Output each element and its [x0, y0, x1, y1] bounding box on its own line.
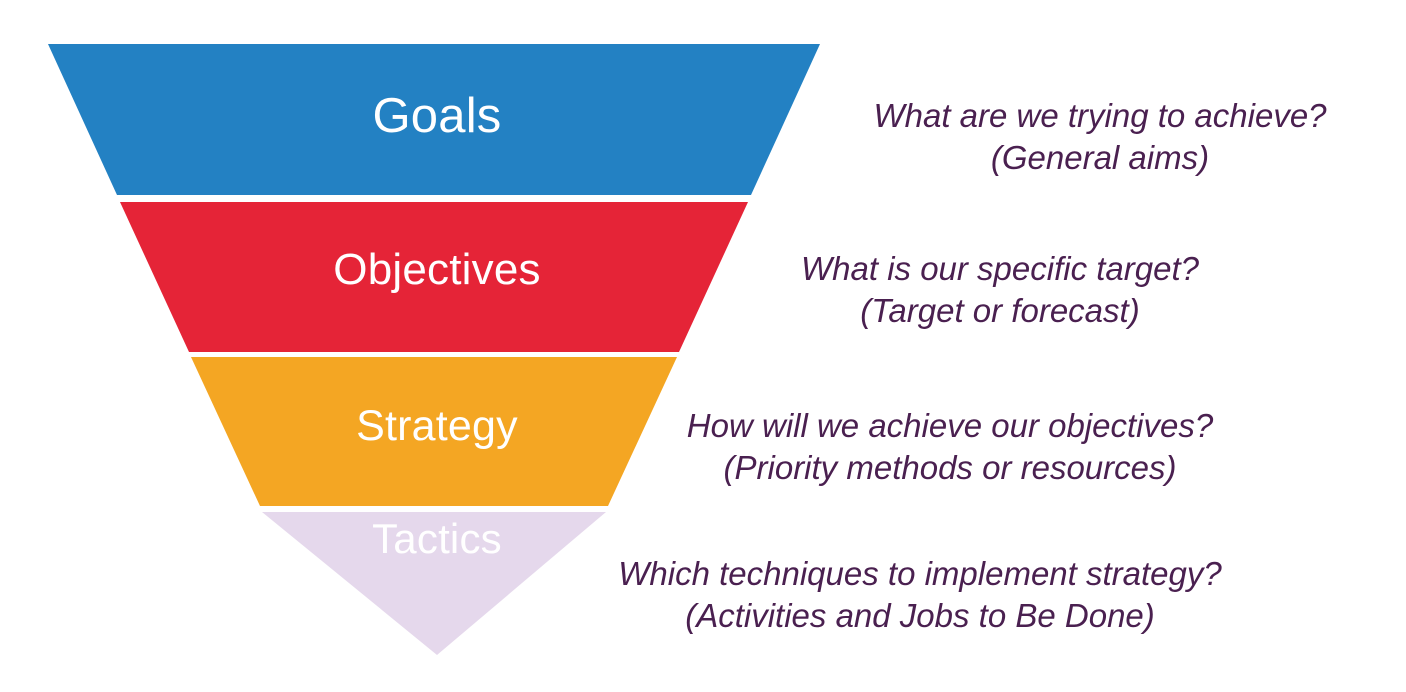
- description-tactics-question: Which techniques to implement strategy?: [540, 553, 1300, 595]
- description-objectives-detail: (Target or forecast): [700, 290, 1300, 332]
- description-objectives-question: What is our specific target?: [700, 248, 1300, 290]
- description-tactics-detail: (Activities and Jobs to Be Done): [540, 595, 1300, 637]
- description-strategy: How will we achieve our objectives? (Pri…: [605, 405, 1295, 489]
- band-label-objectives: Objectives: [237, 248, 637, 292]
- band-label-strategy: Strategy: [237, 405, 637, 448]
- description-goals-question: What are we trying to achieve?: [800, 95, 1400, 137]
- band-label-goals: Goals: [237, 92, 637, 141]
- description-strategy-detail: (Priority methods or resources): [605, 447, 1295, 489]
- description-strategy-question: How will we achieve our objectives?: [605, 405, 1295, 447]
- description-goals-detail: (General aims): [800, 137, 1400, 179]
- funnel-diagram: Goals Objectives Strategy Tactics What a…: [0, 0, 1406, 692]
- description-objectives: What is our specific target? (Target or …: [700, 248, 1300, 332]
- description-goals: What are we trying to achieve? (General …: [800, 95, 1400, 179]
- description-tactics: Which techniques to implement strategy? …: [540, 553, 1300, 637]
